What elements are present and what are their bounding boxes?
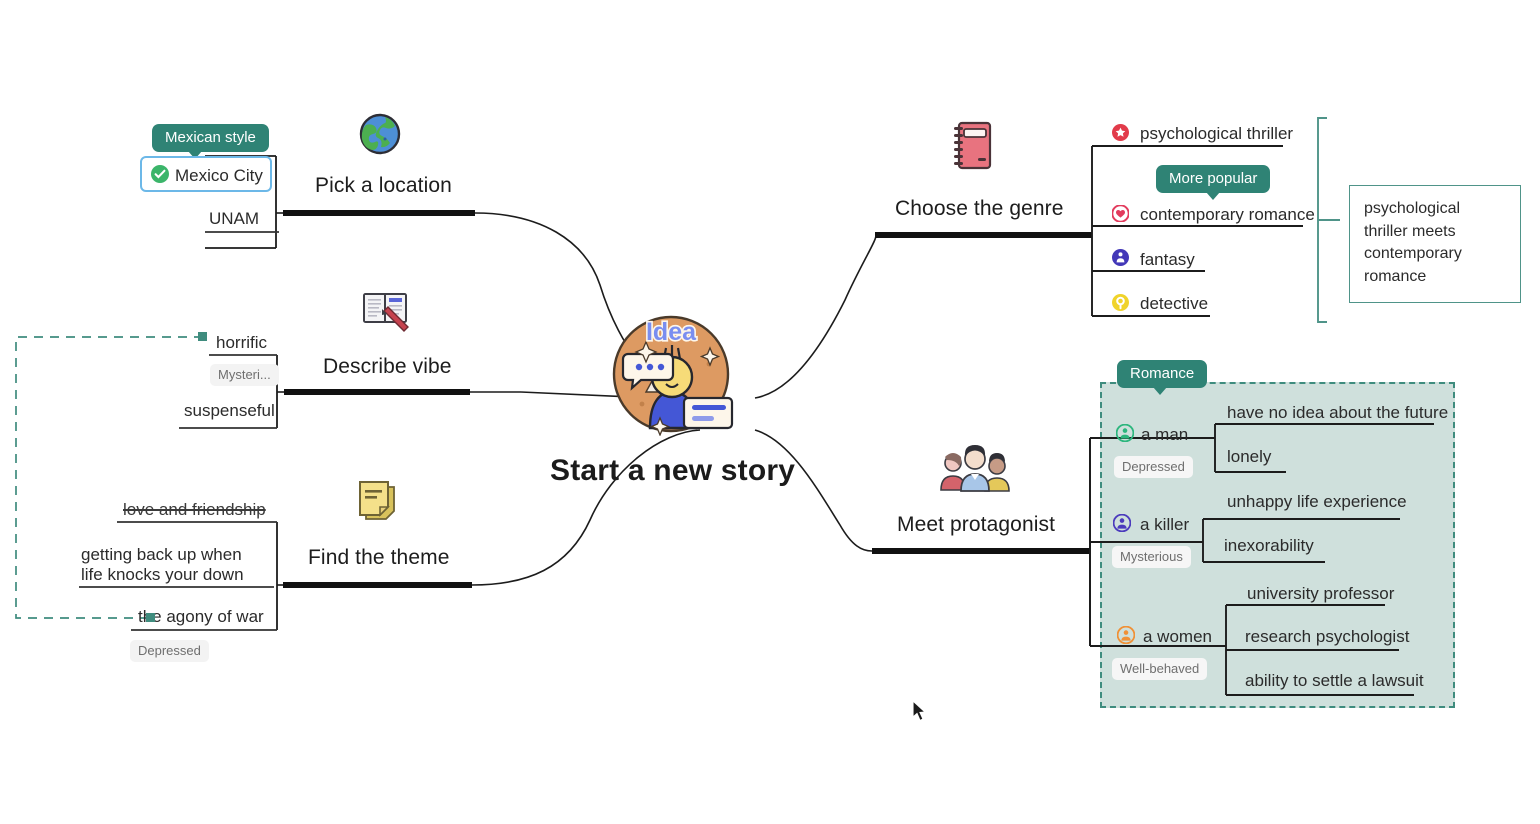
node-trait-inexorability[interactable]: inexorability — [1224, 535, 1314, 557]
node-trait-unhappy-life[interactable]: unhappy life experience — [1227, 491, 1407, 513]
node-a-women-label[interactable]: a women — [1143, 626, 1212, 648]
chip-a-women-well-behaved[interactable]: Well-behaved — [1112, 658, 1207, 680]
mouse-cursor — [912, 700, 928, 722]
mindmap-canvas[interactable]: Idea Start a new story Pick a location — [0, 0, 1540, 824]
node-trait-no-idea-future[interactable]: have no idea about the future — [1227, 402, 1448, 424]
node-a-killer-label[interactable]: a killer — [1140, 514, 1189, 536]
chip-a-killer-mysterious[interactable]: Mysterious — [1112, 546, 1191, 568]
avatar-a-man-icon — [1116, 424, 1134, 442]
chip-a-man-depressed[interactable]: Depressed — [1114, 456, 1193, 478]
node-a-man-label[interactable]: a man — [1141, 424, 1188, 446]
node-trait-university-professor[interactable]: university professor — [1247, 583, 1394, 605]
avatar-a-killer-icon — [1113, 514, 1131, 532]
node-trait-settle-lawsuit[interactable]: ability to settle a lawsuit — [1245, 670, 1424, 692]
avatar-a-women-icon — [1117, 626, 1135, 644]
node-trait-research-psychologist[interactable]: research psychologist — [1245, 626, 1409, 648]
node-trait-lonely[interactable]: lonely — [1227, 446, 1271, 468]
